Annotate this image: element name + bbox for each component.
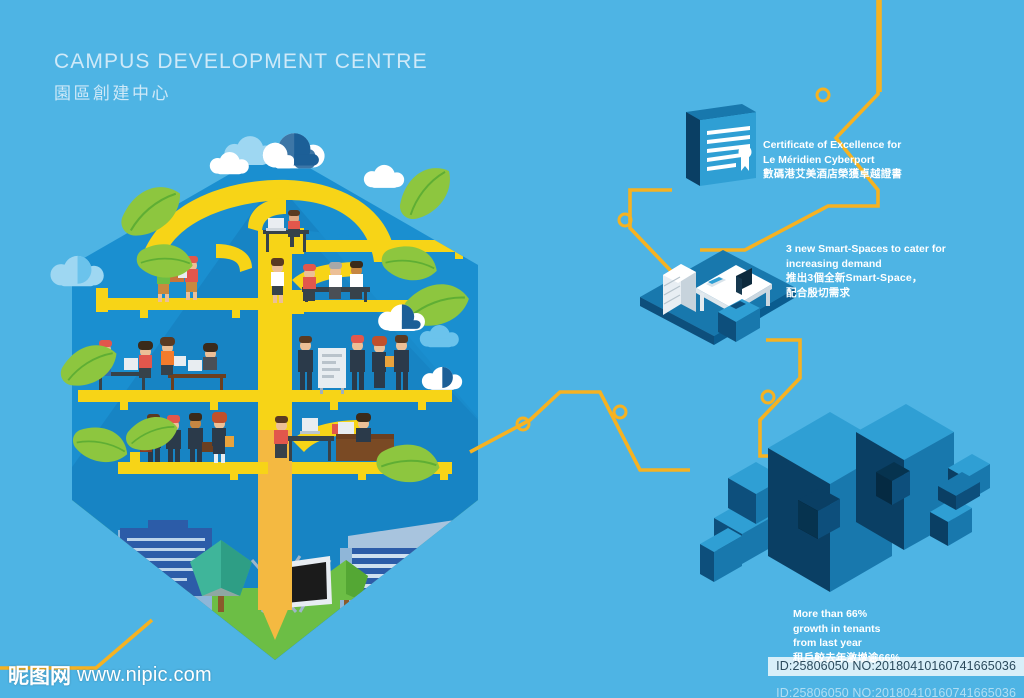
callout-growth-line2: growth in tenants xyxy=(793,622,900,637)
callout-certificate-line2: Le Méridien Cyberport xyxy=(763,153,902,168)
page-title: CAMPUS DEVELOPMENT CENTRE 園區創建中心 xyxy=(54,50,428,104)
watermark-logo: 昵图网 xyxy=(8,660,71,690)
artboard: CAMPUS DEVELOPMENT CENTRE 園區創建中心 Certifi… xyxy=(0,0,1024,698)
title-english: CAMPUS DEVELOPMENT CENTRE xyxy=(54,50,428,74)
callout-certificate-line1: Certificate of Excellence for xyxy=(763,138,902,153)
id-stamp-ghost: ID:25806050 NO:20180410160741665036 xyxy=(768,684,1024,698)
watermark-url: www.nipic.com xyxy=(77,664,212,687)
callout-smartspace-zh-1: 推出3個全新Smart-Space， xyxy=(786,271,946,286)
callout-smartspace-line1: 3 new Smart-Spaces to cater for xyxy=(786,242,946,257)
certificate-icon xyxy=(686,104,756,186)
id-stamp: ID:25806050 NO:20180410160741665036 xyxy=(768,657,1024,676)
title-chinese: 園區創建中心 xyxy=(54,79,428,104)
callout-certificate-zh: 數碼港艾美酒店榮獲卓越證書 xyxy=(763,167,902,182)
callout-smartspace: 3 new Smart-Spaces to cater for increasi… xyxy=(786,242,946,300)
illustration-svg xyxy=(0,0,1024,698)
callout-certificate: Certificate of Excellence for Le Méridie… xyxy=(763,138,902,182)
callout-growth-line3: from last year xyxy=(793,636,900,651)
watermark: 昵图网 www.nipic.com xyxy=(8,660,212,690)
callout-smartspace-line2: increasing demand xyxy=(786,257,946,272)
callout-growth-line1: More than 66% xyxy=(793,607,900,622)
infographic-canvas: CAMPUS DEVELOPMENT CENTRE 園區創建中心 Certifi… xyxy=(0,0,1024,698)
callout-smartspace-zh-2: 配合殷切需求 xyxy=(786,286,946,301)
